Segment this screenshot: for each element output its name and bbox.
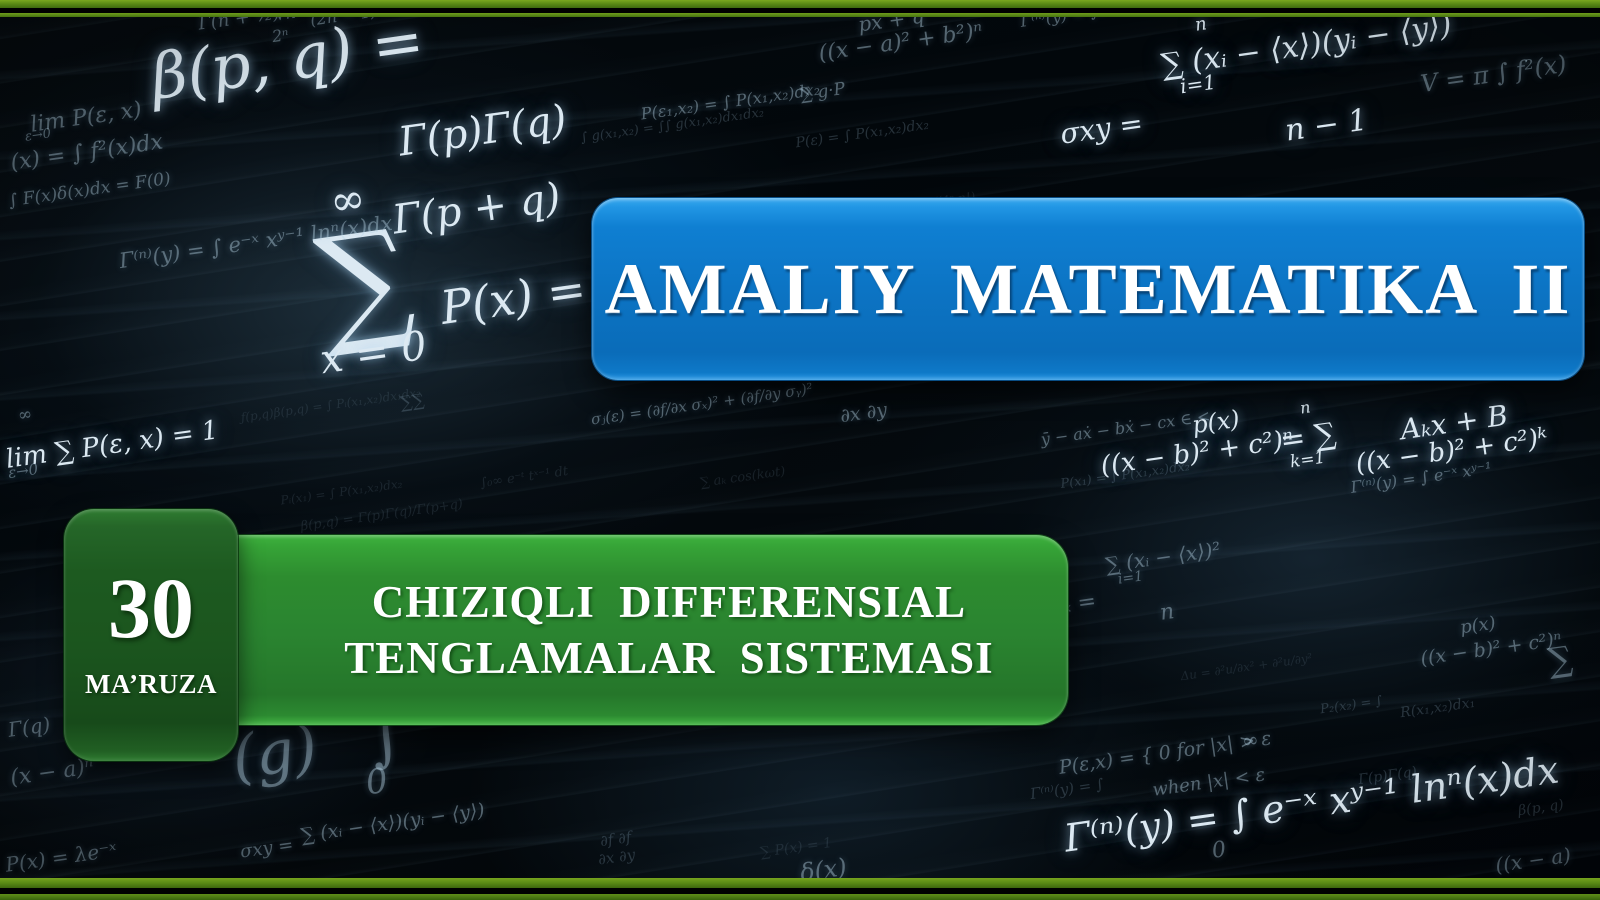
top-border-green-line bbox=[0, 13, 1600, 17]
lecture-topic-panel: CHIZIQLI DIFFERENSIAL TENGLAMALAR SISTEM… bbox=[100, 535, 1068, 725]
title-slide: β(p, q) =Γ(p)Γ(q)Γ(p + q)∞∑x = 0P(x) = 1… bbox=[0, 0, 1600, 900]
course-title-box: AMALIY MATEMATIKA II bbox=[592, 198, 1584, 380]
course-title-text: AMALIY MATEMATIKA II bbox=[605, 248, 1572, 331]
lecture-topic-line-1: CHIZIQLI DIFFERENSIAL bbox=[372, 577, 966, 627]
lecture-number: 30 bbox=[108, 565, 194, 651]
top-border-bar bbox=[0, 0, 1600, 18]
bottom-border-bar bbox=[0, 878, 1600, 900]
lecture-topic-text: CHIZIQLI DIFFERENSIAL TENGLAMALAR SISTEM… bbox=[344, 574, 993, 687]
background-vignette bbox=[0, 0, 1600, 900]
lecture-topic-line-2: TENGLAMALAR SISTEMASI bbox=[344, 630, 993, 686]
lecture-number-label: MA’RUZA bbox=[85, 669, 217, 700]
top-border-green-stripe bbox=[0, 0, 1600, 8]
bottom-border-green-line bbox=[0, 894, 1600, 900]
bottom-border-green-stripe bbox=[0, 878, 1600, 888]
lecture-number-tab: 30 MA’RUZA bbox=[64, 509, 238, 761]
